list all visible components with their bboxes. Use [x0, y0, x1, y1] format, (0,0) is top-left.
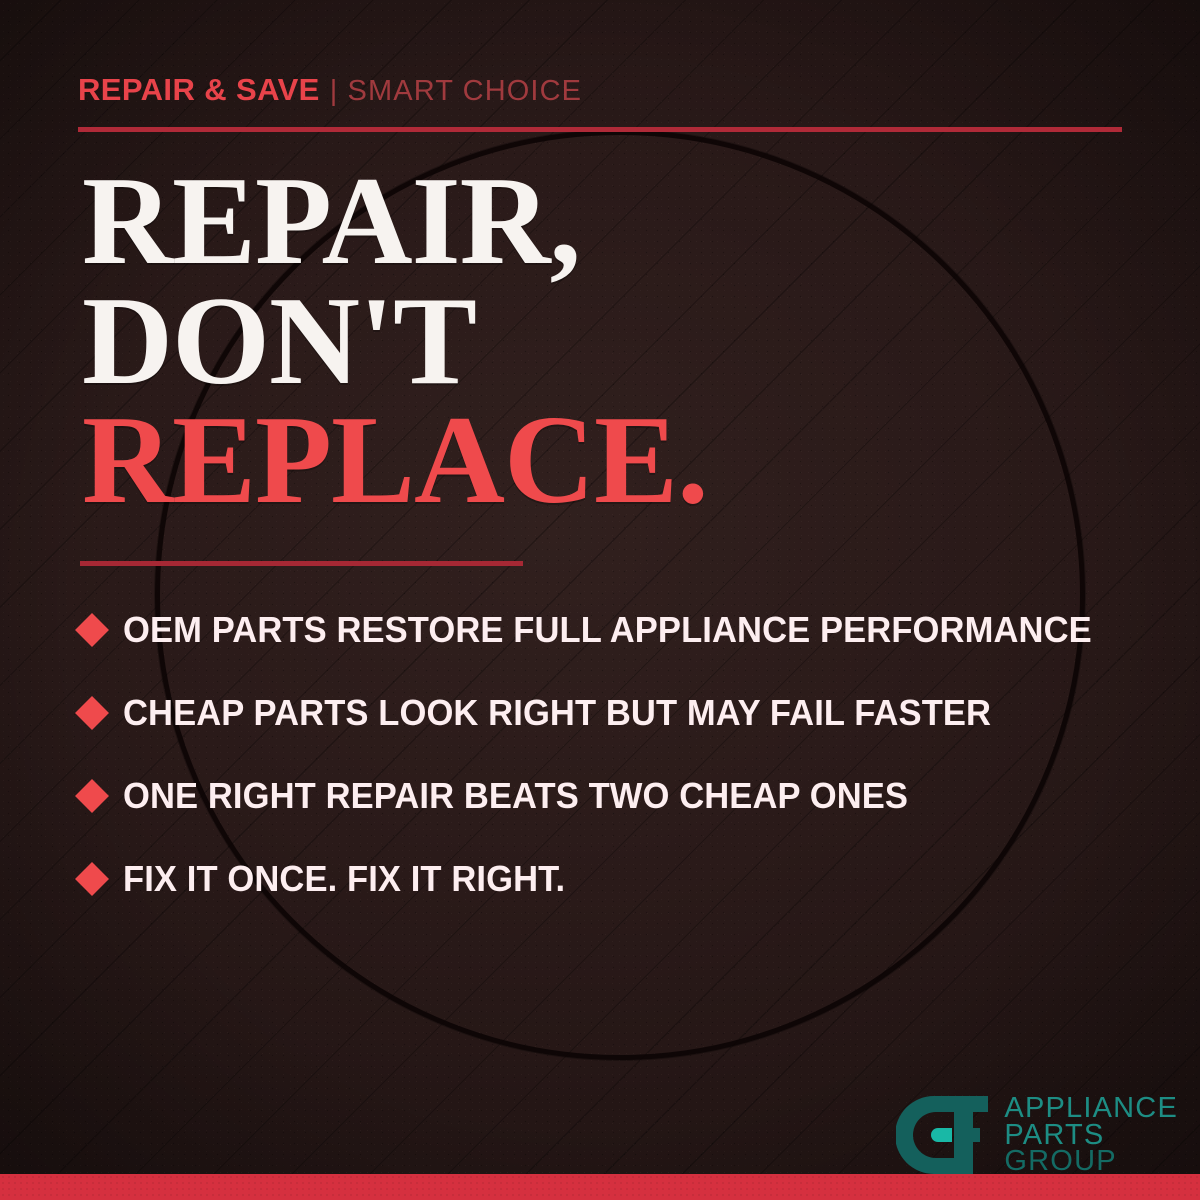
headline-divider-rule [80, 561, 523, 566]
headline-line-2: DON'T [82, 282, 708, 402]
brand-logo: APPLIANCE PARTS GROUP [896, 1092, 1178, 1178]
kicker-light-text: | SMART CHOICE [330, 75, 582, 107]
headline-line-1: REPAIR, [82, 162, 708, 282]
footer-accent-bar [0, 1174, 1200, 1200]
brand-word-group: GROUP [1004, 1148, 1178, 1175]
brand-word-appliance: APPLIANCE [1004, 1095, 1178, 1122]
kicker-eyebrow: REPAIR & SAVE| SMART CHOICE [78, 74, 582, 106]
diamond-bullet-icon [75, 613, 109, 647]
list-item-label: OEM PARTS RESTORE FULL APPLIANCE PERFORM… [123, 609, 1092, 651]
diamond-bullet-icon [75, 862, 109, 896]
poster-content: REPAIR & SAVE| SMART CHOICE REPAIR, DON'… [0, 0, 1200, 1200]
g-monogram-icon [896, 1092, 992, 1178]
header-divider-rule [78, 127, 1122, 132]
page-title: REPAIR, DON'T REPLACE. [82, 162, 708, 521]
list-item-label: CHEAP PARTS LOOK RIGHT BUT MAY FAIL FAST… [123, 692, 991, 734]
list-item-label: FIX IT ONCE. FIX IT RIGHT. [123, 858, 565, 900]
list-item: FIX IT ONCE. FIX IT RIGHT. [80, 837, 1160, 920]
benefit-list: OEM PARTS RESTORE FULL APPLIANCE PERFORM… [80, 588, 1160, 920]
list-item: CHEAP PARTS LOOK RIGHT BUT MAY FAIL FAST… [80, 671, 1160, 754]
brand-word-parts: PARTS [1004, 1122, 1178, 1149]
kicker-strong-text: REPAIR & SAVE [78, 72, 320, 107]
list-item-label: ONE RIGHT REPAIR BEATS TWO CHEAP ONES [123, 775, 908, 817]
diamond-bullet-icon [75, 779, 109, 813]
footer-bar-texture [0, 1174, 1200, 1200]
headline-line-3: REPLACE. [82, 401, 708, 521]
list-item: OEM PARTS RESTORE FULL APPLIANCE PERFORM… [80, 588, 1160, 671]
list-item: ONE RIGHT REPAIR BEATS TWO CHEAP ONES [80, 754, 1160, 837]
brand-logo-wordmark: APPLIANCE PARTS GROUP [1004, 1095, 1178, 1176]
diamond-bullet-icon [75, 696, 109, 730]
poster-canvas: REPAIR & SAVE| SMART CHOICE REPAIR, DON'… [0, 0, 1200, 1200]
